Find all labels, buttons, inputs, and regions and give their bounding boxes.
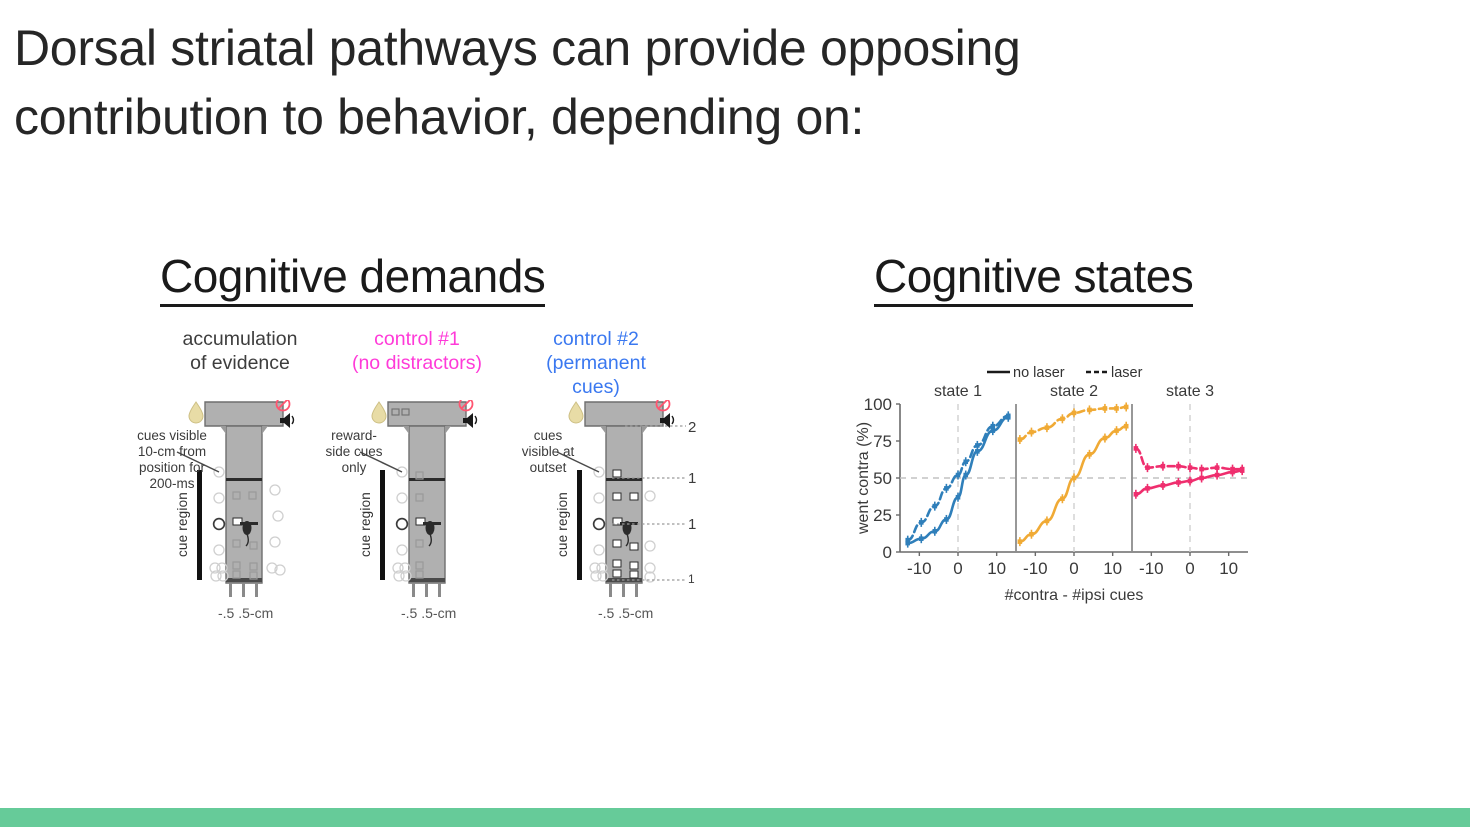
section-heading-cognitive-states-text: Cognitive states <box>874 250 1193 307</box>
data-point <box>1145 486 1150 491</box>
data-point <box>991 424 996 429</box>
x-axis-tick-label: 0 <box>1069 559 1078 578</box>
maze-note-control-1: reward- side cues only <box>313 428 395 476</box>
position-marker-1a: 1 <box>688 470 696 487</box>
data-point <box>1087 452 1092 457</box>
data-point <box>919 536 924 541</box>
water-drop-icon <box>569 402 583 423</box>
x-axis-tick-label: 0 <box>953 559 962 578</box>
maze-diagram-control-1: reward- side cues only cue region -.5 .5… <box>303 400 503 630</box>
maze-caption-control-1: control #1 (no distractors) <box>337 328 497 376</box>
psychometric-chart: no laserlaser0255075100went contra (%)st… <box>852 352 1272 610</box>
y-axis-tick-label: 0 <box>883 543 892 562</box>
position-marker-1b: 1 <box>688 516 696 533</box>
panel-title: state 1 <box>934 383 982 400</box>
x-axis-tick-label: -10 <box>907 559 932 578</box>
x-axis-tick-label: -10 <box>1139 559 1164 578</box>
x-axis-tick-label: -10 <box>1023 559 1048 578</box>
position-marker-2: 2 <box>688 419 696 436</box>
data-point <box>1176 480 1181 485</box>
maze-caption-control-2: control #2 (permanent cues) <box>522 328 670 399</box>
data-point <box>933 529 938 534</box>
data-point <box>1161 464 1166 469</box>
data-point <box>1114 428 1119 433</box>
data-point <box>905 538 910 543</box>
data-point <box>1072 411 1077 416</box>
data-point <box>1018 539 1023 544</box>
cue-region-label-2: cue region <box>556 492 571 557</box>
data-point <box>1199 476 1204 481</box>
data-point <box>1060 417 1065 422</box>
maze-note-control-2: cues visible at outset <box>512 428 584 476</box>
chart-panel-state-1: state 1-10010 <box>905 383 1016 578</box>
maze-scale-label-0: -.5 .5-cm <box>218 605 273 621</box>
x-axis-tick-label: 10 <box>987 559 1006 578</box>
page-title-line-1: Dorsal striatal pathways can provide opp… <box>14 14 1314 83</box>
data-point <box>944 517 949 522</box>
data-point <box>963 459 968 464</box>
cue-region-label-0: cue region <box>176 492 191 557</box>
data-point <box>1103 406 1108 411</box>
cue-region-bracket <box>577 470 582 580</box>
data-point <box>1215 473 1220 478</box>
active-cue-indicator <box>594 519 605 530</box>
maze-caption-accumulation: accumulation of evidence <box>158 328 322 376</box>
x-axis-tick-label: 10 <box>1103 559 1122 578</box>
data-point <box>1029 532 1034 537</box>
x-axis-label: #contra - #ipsi cues <box>1005 587 1144 604</box>
x-axis-tick-label: 0 <box>1185 559 1194 578</box>
data-point <box>1215 465 1220 470</box>
data-point <box>963 473 968 478</box>
data-point <box>1072 476 1077 481</box>
data-point <box>1029 430 1034 435</box>
data-point <box>1006 414 1011 419</box>
maze-note-accumulation: cues visible 10-cm from position for 200… <box>122 428 222 492</box>
data-point <box>1103 436 1108 441</box>
y-axis-tick-label: 50 <box>873 469 892 488</box>
data-point <box>1018 437 1023 442</box>
chart-panel-state-2: state 2-10010 <box>1018 383 1132 578</box>
data-point <box>956 495 961 500</box>
y-axis-tick-label: 100 <box>864 395 892 414</box>
page-title-line-2: contribution to behavior, depending on: <box>14 83 1314 152</box>
data-point <box>1060 496 1065 501</box>
data-point <box>1045 425 1050 430</box>
page-title: Dorsal striatal pathways can provide opp… <box>14 14 1314 152</box>
data-point <box>1134 492 1139 497</box>
y-axis-tick-label: 75 <box>873 432 892 451</box>
section-heading-cognitive-states: Cognitive states <box>874 249 1193 303</box>
data-point <box>1230 467 1235 472</box>
water-drop-icon <box>189 402 203 423</box>
maze-diagram-control-2: cues visible at outset cue region -.5 .5… <box>500 400 700 630</box>
data-point <box>975 443 980 448</box>
data-point <box>1161 483 1166 488</box>
data-point <box>919 520 924 525</box>
cue-region-label-1: cue region <box>359 492 374 557</box>
data-point <box>1188 465 1193 470</box>
y-axis-label: went contra (%) <box>855 422 872 535</box>
data-point <box>1240 467 1245 472</box>
maze-scale-label-2: -.5 .5-cm <box>598 605 653 621</box>
chart-legend: no laserlaser <box>987 365 1143 381</box>
data-point <box>1045 519 1050 524</box>
data-point <box>1124 405 1129 410</box>
data-point <box>1087 408 1092 413</box>
water-drop-icon <box>372 402 386 423</box>
data-point <box>1188 479 1193 484</box>
cue-region-bracket <box>380 470 385 580</box>
data-point <box>933 504 938 509</box>
legend-label-laser: laser <box>1111 365 1143 381</box>
y-axis-tick-label: 25 <box>873 506 892 525</box>
data-point <box>956 473 961 478</box>
series-line-no-laser <box>1020 426 1126 541</box>
cue-towers <box>393 467 411 581</box>
panel-title: state 3 <box>1166 383 1214 400</box>
section-heading-cognitive-demands-text: Cognitive demands <box>160 250 545 307</box>
data-point <box>1114 406 1119 411</box>
legend-label-no-laser: no laser <box>1013 365 1065 381</box>
data-point <box>1199 467 1204 472</box>
slide-canvas: Dorsal striatal pathways can provide opp… <box>0 0 1470 827</box>
data-point <box>1134 446 1139 451</box>
data-point <box>1176 464 1181 469</box>
panel-title: state 2 <box>1050 383 1098 400</box>
data-point <box>1145 465 1150 470</box>
maze-diagram-accumulation: cues visible 10-cm from position for 200… <box>120 400 320 630</box>
accent-band <box>0 808 1470 827</box>
section-heading-cognitive-demands: Cognitive demands <box>160 249 545 303</box>
data-point <box>1124 424 1129 429</box>
chart-panel-state-3: state 3-10010 <box>1134 383 1245 578</box>
position-marker-1c: 1 <box>688 572 695 586</box>
data-point <box>944 486 949 491</box>
maze-scale-label-1: -.5 .5-cm <box>401 605 456 621</box>
x-axis-tick-label: 10 <box>1219 559 1238 578</box>
